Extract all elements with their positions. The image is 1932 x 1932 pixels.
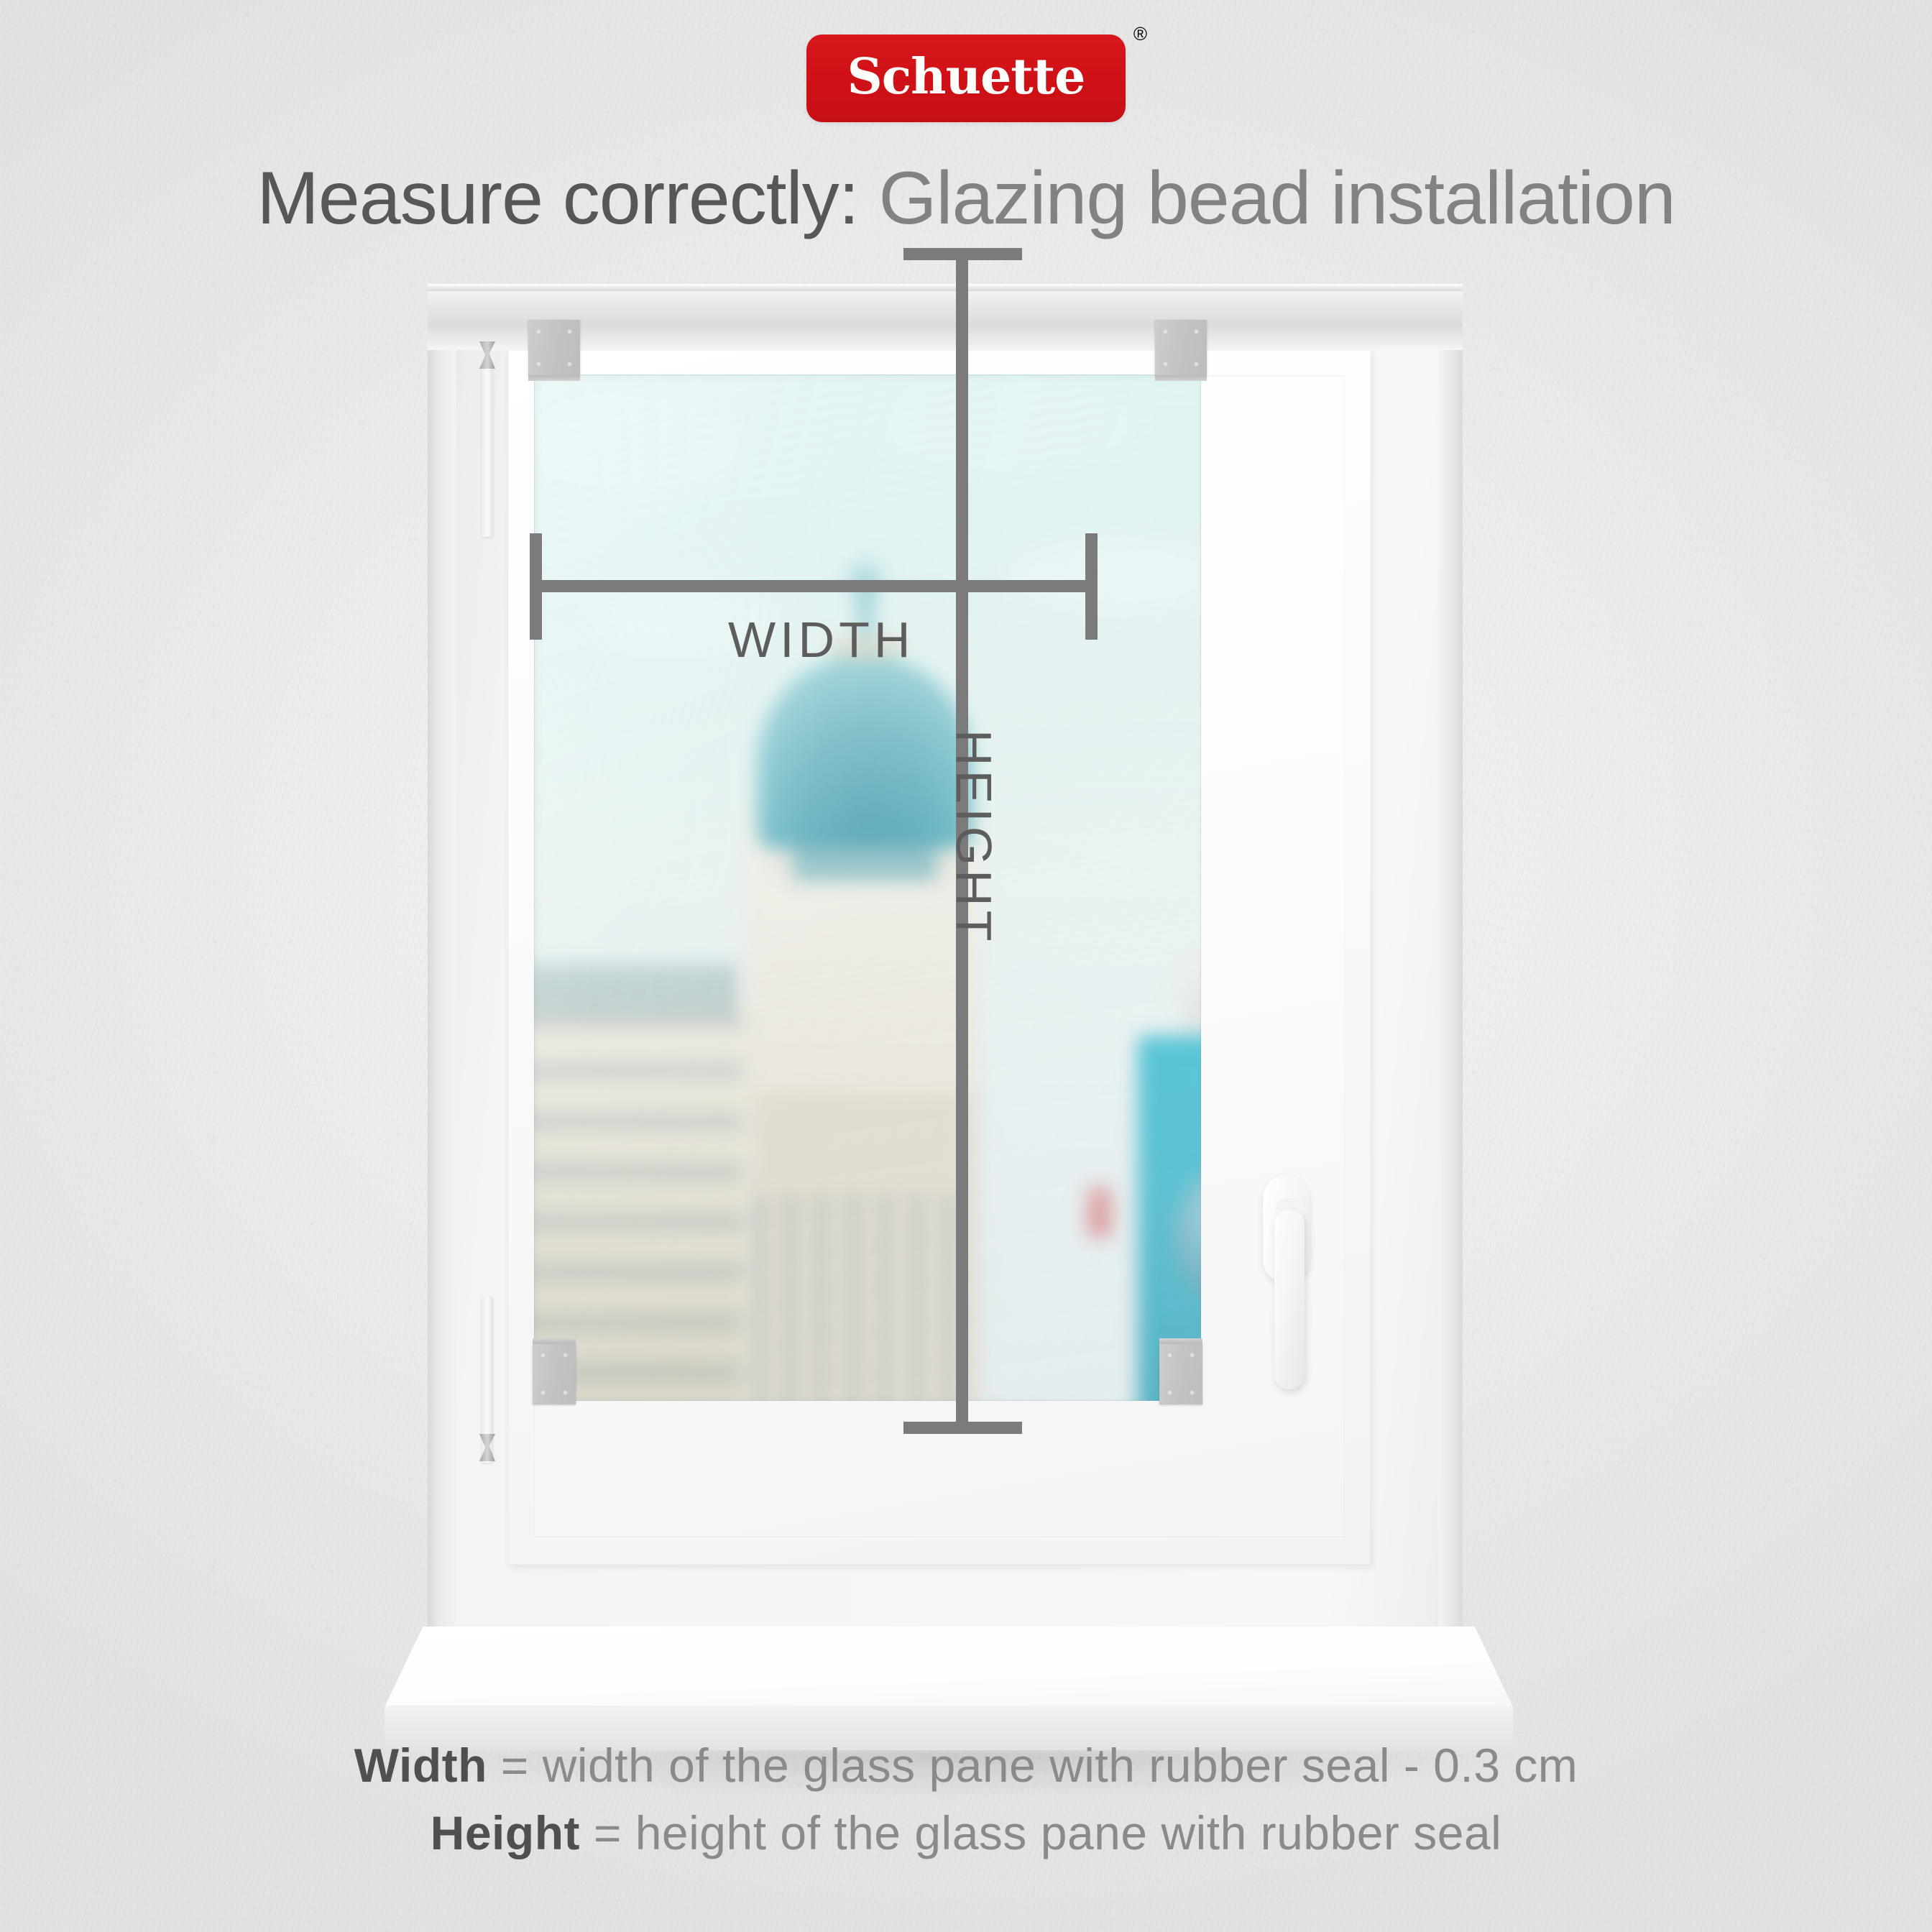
caption-width: Width = width of the glass pane with rub… [0, 1738, 1932, 1793]
height-measure-cap-bottom [903, 1422, 1022, 1434]
width-measure-bar [530, 580, 1098, 592]
reveal-head-jamb [428, 284, 1463, 350]
bracket-lip [533, 1338, 576, 1344]
brand-logo-text: Schuette [847, 52, 1085, 101]
glazing-bracket-top-left [528, 320, 580, 376]
window-handle-lever[interactable] [1274, 1210, 1305, 1389]
registered-trademark-icon: ® [1133, 23, 1147, 45]
caption-height-text: = height of the glass pane with rubber s… [580, 1806, 1501, 1859]
brand-logo: Schuette ® [806, 34, 1126, 122]
glass-edge-shadow [534, 374, 1201, 1401]
window-sill-top [385, 1627, 1513, 1707]
width-measure-label: WIDTH [728, 611, 914, 668]
caption-width-text: = width of the glass pane with rubber se… [487, 1739, 1578, 1792]
infographic-canvas: Schuette ® Measure correctly: Glazing be… [0, 0, 1932, 1932]
height-measure-cap-top [903, 248, 1022, 260]
window-illustration: WIDTH HEIGHT [428, 284, 1463, 1678]
reveal-left-jamb [428, 284, 456, 1628]
glazing-bracket-bottom-right [1159, 1343, 1202, 1404]
width-measure-cap-right [1085, 533, 1098, 640]
reveal-right-jamb [1438, 284, 1463, 1628]
glass-pane [534, 374, 1201, 1401]
bracket-lip [1155, 375, 1207, 381]
caption-height: Height = height of the glass pane with r… [0, 1805, 1932, 1860]
bracket-lip [1159, 1338, 1202, 1344]
page-title: Measure correctly: Glazing bead installa… [0, 157, 1932, 240]
caption-height-term: Height [431, 1806, 580, 1859]
glazing-bracket-top-right [1155, 320, 1207, 376]
hinge-bar-top [482, 364, 493, 537]
width-measure-cap-left [530, 533, 542, 640]
bracket-lip [528, 375, 580, 381]
glazing-bracket-bottom-left [533, 1343, 576, 1404]
page-title-light: Glazing bead installation [859, 157, 1675, 240]
page-title-strong: Measure correctly: [257, 157, 858, 240]
reveal-head-lip [428, 284, 1463, 291]
sash-bottom-highlight [534, 1537, 1345, 1539]
height-measure-label: HEIGHT [945, 730, 1003, 945]
caption-width-term: Width [354, 1739, 487, 1792]
